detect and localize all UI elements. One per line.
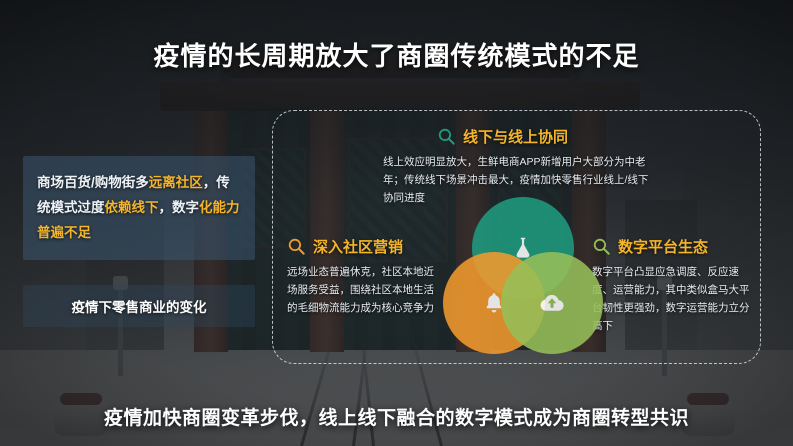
section-online-offline-synergy: 线下与线上协同 线上效应明显放大，生鲜电商APP新增用户大部分为中老年；传统线下… <box>383 126 658 207</box>
section-header: 数字平台生态 <box>592 236 752 257</box>
slide-content: 疫情的长周期放大了商圈传统模式的不足 商场百货/购物街多远离社区，传统模式过度依… <box>0 0 793 446</box>
search-icon <box>287 237 306 256</box>
search-icon <box>437 127 456 146</box>
section-body: 远场业态普遍休克，社区本地近场服务受益，围绕社区本地生活的毛细物流能力成为核心竞… <box>287 263 437 317</box>
bottom-conclusion-banner: 疫情加快商圈变革步伐，线上线下融合的数字模式成为商圈转型共识 <box>0 403 793 430</box>
section-title: 深入社区营销 <box>313 236 403 257</box>
venn-circle-right <box>501 252 603 354</box>
left-text-seg-5: 数字 <box>172 200 199 215</box>
section-digital-platform-ecosystem: 数字平台生态 数字平台凸显应急调度、反应速度、运营能力，其中类似盒马大平台韧性更… <box>592 236 752 335</box>
left-text-highlight-2: 依赖线下 <box>105 200 159 215</box>
section-header: 深入社区营销 <box>287 236 437 257</box>
left-subtitle-panel: 疫情下零售商业的变化 <box>23 285 255 327</box>
section-body: 数字平台凸显应急调度、反应速度、运营能力，其中类似盒马大平台韧性更强劲，数字运营… <box>592 263 752 335</box>
left-text-seg-4: ， <box>159 200 173 215</box>
venn-diagram <box>443 197 603 354</box>
section-title: 线下与线上协同 <box>463 126 568 147</box>
section-community-marketing: 深入社区营销 远场业态普遍休克，社区本地近场服务受益，围绕社区本地生活的毛细物流… <box>287 236 437 317</box>
slide-root: 疫情的长周期放大了商圈传统模式的不足 商场百货/购物街多远离社区，传统模式过度依… <box>0 0 793 446</box>
section-title: 数字平台生态 <box>618 236 708 257</box>
cloud-upload-icon <box>538 289 566 317</box>
left-panel-text: 商场百货/购物街多远离社区，传统模式过度依赖线下，数字化能力普遍不足 <box>37 170 241 245</box>
left-text-highlight-1: 远离社区 <box>149 175 203 190</box>
page-title: 疫情的长周期放大了商圈传统模式的不足 <box>0 36 793 73</box>
left-text-seg-2: ， <box>203 175 217 190</box>
left-text-seg-1: 商场百货/购物街多 <box>37 175 149 190</box>
left-summary-panel: 商场百货/购物街多远离社区，传统模式过度依赖线下，数字化能力普遍不足 <box>23 156 255 260</box>
section-header: 线下与线上协同 <box>383 126 658 147</box>
